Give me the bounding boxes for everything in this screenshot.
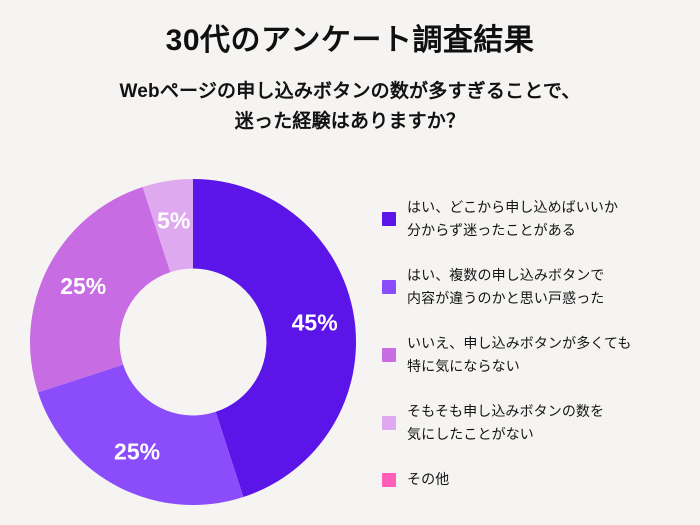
legend-item-4[interactable]: そもそも申し込みボタンの数を気にしたことがない <box>382 400 682 446</box>
legend-item-2[interactable]: はい、複数の申し込みボタンで内容が違うのかと思い戸惑った <box>382 264 682 310</box>
legend-item-3[interactable]: いいえ、申し込みボタンが多くても特に気にならない <box>382 332 682 378</box>
legend-swatch-icon-2 <box>382 280 396 294</box>
legend-label-1-line-2: 分からず迷ったことがある <box>407 219 618 242</box>
legend-label-2-line-2: 内容が違うのかと思い戸惑った <box>407 287 604 310</box>
donut-hole <box>120 269 267 416</box>
legend-item-5[interactable]: その他 <box>382 468 682 491</box>
legend-label-1: はい、どこから申し込めばいいか分からず迷ったことがある <box>407 196 618 242</box>
chart-legend: はい、どこから申し込めばいいか分からず迷ったことがあるはい、複数の申し込みボタン… <box>382 196 682 491</box>
infographic-root: 30代のアンケート調査結果 Webページの申し込みボタンの数が多すぎることで、迷… <box>0 0 700 525</box>
donut-slice-label-2: 25% <box>114 439 160 465</box>
donut-slice-label-4: 5% <box>157 207 190 233</box>
donut-slice-label-1: 45% <box>292 310 338 336</box>
donut-slice-label-3: 25% <box>60 273 106 299</box>
legend-swatch-icon-4 <box>382 416 396 430</box>
legend-label-5-line-1: その他 <box>407 468 449 491</box>
legend-label-5: その他 <box>407 468 449 491</box>
legend-label-4: そもそも申し込みボタンの数を気にしたことがない <box>407 400 604 446</box>
legend-label-3-line-2: 特に気にならない <box>407 355 631 378</box>
legend-item-1[interactable]: はい、どこから申し込めばいいか分からず迷ったことがある <box>382 196 682 242</box>
chart-subtitle-line-2: 迷った経験はありますか？ <box>0 107 700 137</box>
legend-label-2: はい、複数の申し込みボタンで内容が違うのかと思い戸惑った <box>407 264 604 310</box>
legend-label-2-line-1: はい、複数の申し込みボタンで <box>407 264 604 287</box>
legend-swatch-icon-1 <box>382 212 396 226</box>
legend-label-4-line-2: 気にしたことがない <box>407 423 604 446</box>
chart-header: 30代のアンケート調査結果 Webページの申し込みボタンの数が多すぎることで、迷… <box>0 0 700 137</box>
chart-subtitle: Webページの申し込みボタンの数が多すぎることで、迷った経験はありますか？ <box>0 61 700 137</box>
legend-label-3: いいえ、申し込みボタンが多くても特に気にならない <box>407 332 631 378</box>
legend-label-4-line-1: そもそも申し込みボタンの数を <box>407 400 604 423</box>
donut-chart: 45%25%25%5% <box>30 179 356 505</box>
legend-swatch-icon-5 <box>382 473 396 487</box>
legend-label-3-line-1: いいえ、申し込みボタンが多くても <box>407 332 631 355</box>
donut-slice-group <box>30 179 356 505</box>
legend-label-1-line-1: はい、どこから申し込めばいいか <box>407 196 618 219</box>
page-title: 30代のアンケート調査結果 <box>0 0 700 61</box>
donut-chart-svg: 45%25%25%5% <box>30 179 356 505</box>
legend-swatch-icon-3 <box>382 348 396 362</box>
chart-subtitle-line-1: Webページの申し込みボタンの数が多すぎることで、 <box>0 77 700 107</box>
